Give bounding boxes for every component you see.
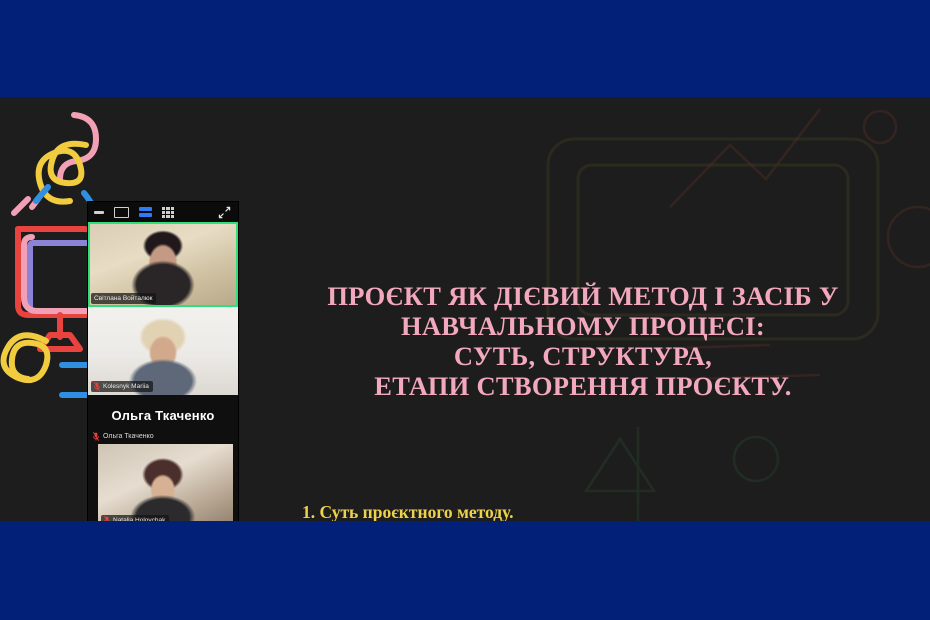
slide-title: ПРОЄКТ ЯК ДІЄВИЙ МЕТОД І ЗАСІБ У НАВЧАЛЬ… [258,281,908,401]
active-speaker-name: Ольга Ткаченко [88,395,238,432]
participant-name-tag: Kolesnyk Mariia [91,381,153,392]
participant-name: Kolesnyk Mariia [103,382,149,391]
slide-panel: Світлана Войталюк Kolesnyk Mariia Ольга … [0,97,930,521]
participant-name: Світлана Войталюк [94,294,152,303]
participant-name-tag: Світлана Войталюк [91,293,156,304]
title-line: ЕТАПИ СТВОРЕННЯ ПРОЄКТУ. [258,371,908,401]
fullscreen-icon[interactable] [218,206,231,219]
zoom-toolbar[interactable] [88,202,238,222]
participant-tile[interactable]: Natalia Holovchak [98,444,233,521]
host-name: Ольга Ткаченко [103,433,154,440]
minimize-icon[interactable] [94,211,104,214]
zoom-meeting-window[interactable]: Світлана Войталюк Kolesnyk Mariia Ольга … [88,202,238,521]
slide-canvas: Світлана Войталюк Kolesnyk Mariia Ольга … [0,0,930,620]
title-line: ПРОЄКТ ЯК ДІЄВИЙ МЕТОД І ЗАСІБ У [258,281,908,311]
gallery-view-icon[interactable] [162,207,174,218]
mic-muted-icon [104,516,110,521]
mic-muted-icon [93,432,99,441]
participant-tile[interactable]: Світлана Войталюк [88,222,238,307]
host-name-tag: Ольга Ткаченко [88,432,238,444]
mic-muted-icon [94,382,100,391]
participant-video: Natalia Holovchak [98,444,233,521]
agenda-list: 1. Суть проєктного методу. 2. Структура … [302,493,862,521]
strip-view-icon[interactable] [139,207,152,217]
title-line: СУТЬ, СТРУКТУРА, [258,341,908,371]
participant-name: Natalia Holovchak [113,516,165,521]
agenda-item: 1. Суть проєктного методу. [302,493,862,521]
participant-name-tag: Natalia Holovchak [101,515,169,521]
participant-tile[interactable]: Kolesnyk Mariia [88,307,238,395]
speaker-view-icon[interactable] [114,207,129,218]
title-line: НАВЧАЛЬНОМУ ПРОЦЕСІ: [258,311,908,341]
